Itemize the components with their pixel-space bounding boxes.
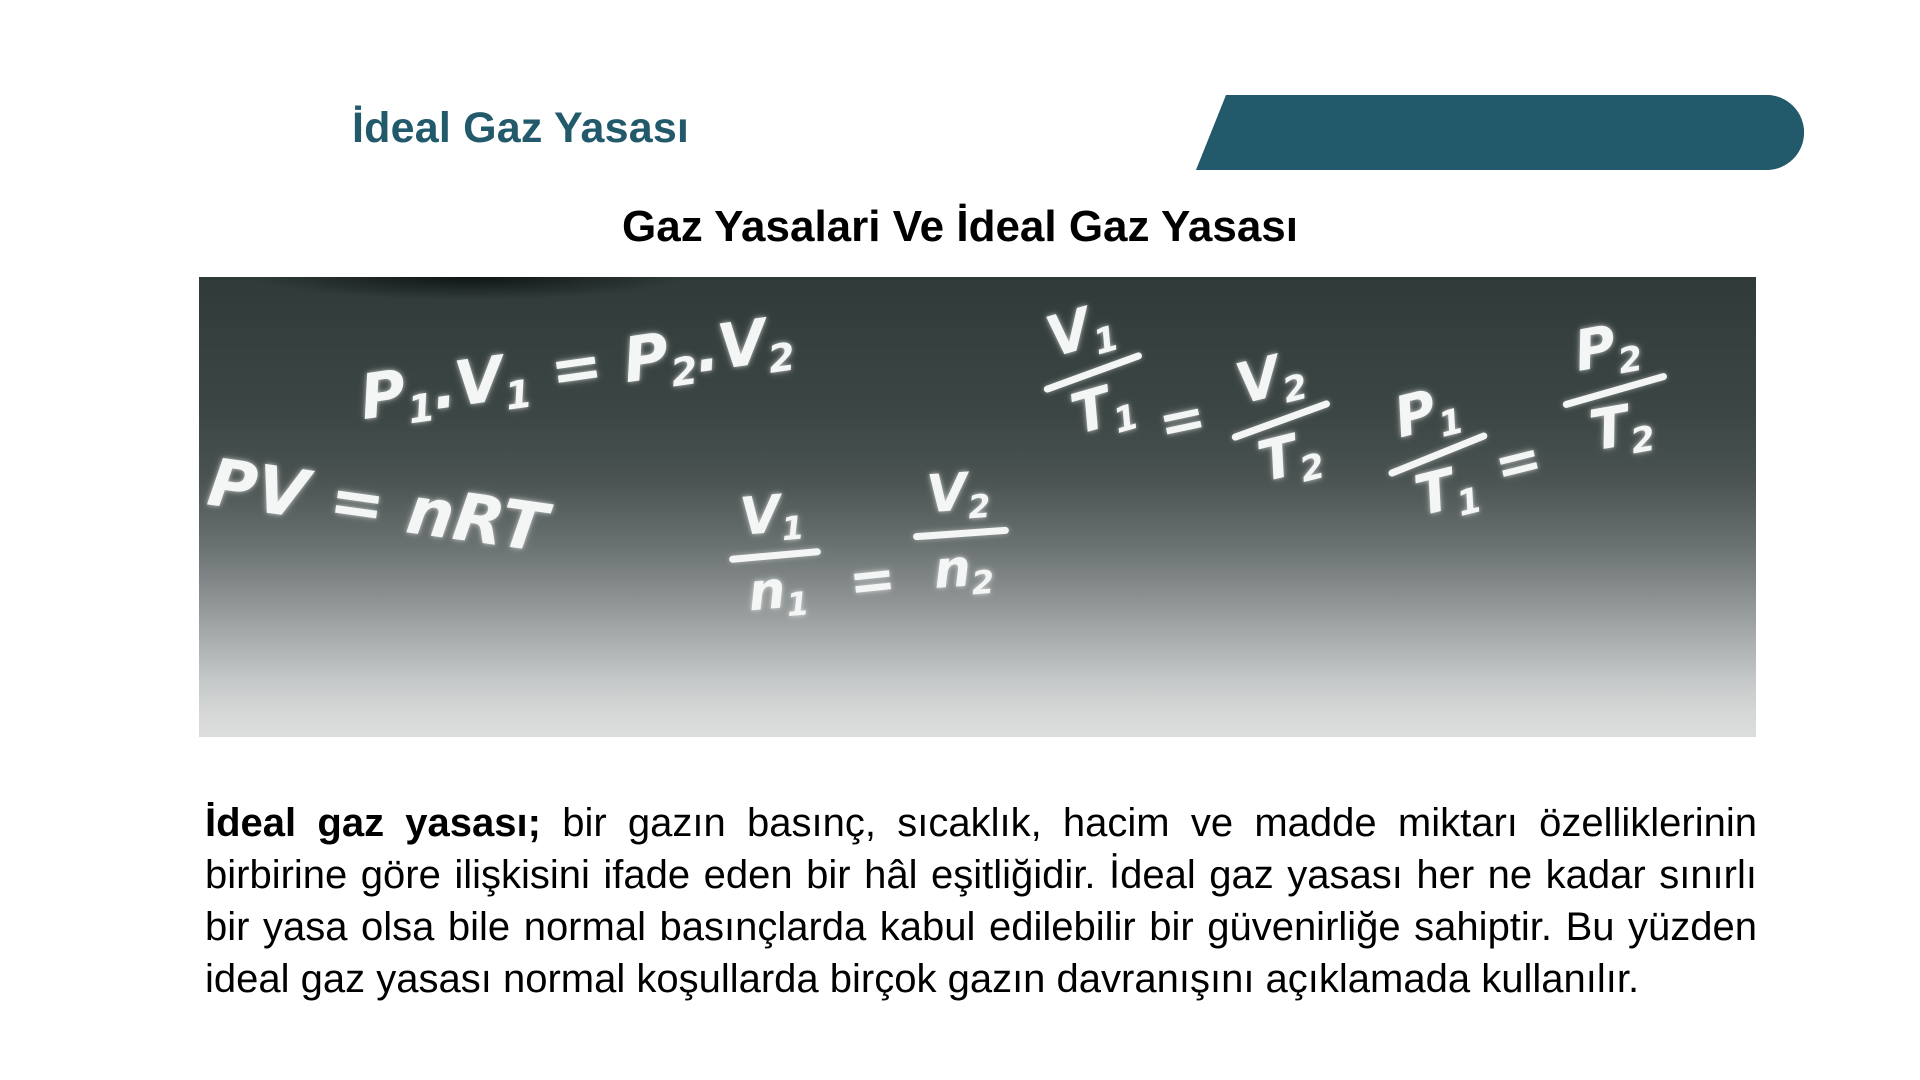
page-title: İdeal Gaz Yasası <box>352 104 689 153</box>
slide-header: İdeal Gaz Yasası <box>0 0 1920 190</box>
slide-root: İdeal Gaz Yasası Gaz Yasalari Ve İdeal G… <box>0 0 1920 1080</box>
body-paragraph: İdeal gaz yasası; bir gazın basınç, sıca… <box>205 797 1757 1005</box>
avogadro-numerator-1: V1 <box>723 485 820 550</box>
avogadro-equals: = <box>846 551 899 612</box>
header-accent-banner-shape <box>1196 95 1804 170</box>
formula-avogadro-left: V1 n1 <box>723 485 826 626</box>
avogadro-denominator-2: n2 <box>914 540 1014 604</box>
avogadro-denominator-1: n1 <box>730 561 827 626</box>
section-subtitle: Gaz Yasalari Ve İdeal Gaz Yasası <box>0 202 1920 252</box>
chalkboard-smudge <box>259 277 679 299</box>
header-accent-banner <box>1196 95 1804 170</box>
chalkboard-image: P1.V1 = P2.V2 PV = nRT V1 n1 = V2 n2 V1 … <box>199 277 1756 737</box>
body-paragraph-lead: İdeal gaz yasası; <box>205 801 541 845</box>
avogadro-numerator-2: V2 <box>908 464 1008 528</box>
formula-avogadro-right: V2 n2 <box>908 464 1013 604</box>
